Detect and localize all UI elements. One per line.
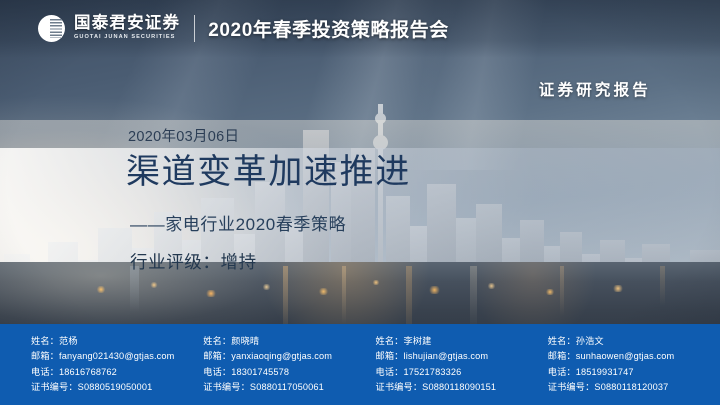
contact-name: 姓名：颜晓晴 — [203, 334, 375, 349]
contact-email: 邮箱：yanxiaoqing@gtjas.com — [203, 349, 375, 364]
gtja-circle-logo-icon — [38, 15, 65, 42]
contact-phone: 电话：18301745578 — [203, 365, 375, 380]
report-type-label: 证券研究报告 — [539, 78, 651, 100]
header-divider — [194, 15, 195, 42]
brand-name-cn: 国泰君安证券GUOTAI JUNAN SECURITIES — [74, 15, 180, 40]
contact-cert: 证书编号：S0880519050001 — [31, 380, 203, 395]
brand-name-en: GUOTAI JUNAN SECURITIES — [74, 35, 180, 41]
contact-name: 姓名：孙浩文 — [548, 334, 720, 349]
brand-logo: 国泰君安证券GUOTAI JUNAN SECURITIES — [38, 15, 180, 42]
contact-email: 邮箱：fanyang021430@gtjas.com — [31, 349, 203, 364]
slide-header: 国泰君安证券GUOTAI JUNAN SECURITIES 2020年春季投资策… — [0, 0, 720, 56]
contact-cert: 证书编号：S0880118120037 — [548, 380, 720, 395]
contact-phone: 电话：17521783326 — [376, 365, 548, 380]
page-title: 渠道变革加速推进 — [126, 155, 411, 189]
contact-name: 姓名：李树建 — [376, 334, 548, 349]
contact-card: 姓名：李树建 邮箱：lishujian@gtjas.com 电话：1752178… — [376, 334, 548, 396]
contacts-footer: 姓名：范杨 邮箱：fanyang021430@gtjas.com 电话：1861… — [0, 324, 720, 405]
contact-phone: 电话：18616768762 — [31, 365, 203, 380]
presentation-cover-slide: 国泰君安证券GUOTAI JUNAN SECURITIES 2020年春季投资策… — [0, 0, 720, 405]
contact-card: 姓名：范杨 邮箱：fanyang021430@gtjas.com 电话：1861… — [31, 334, 203, 396]
contact-cert: 证书编号：S0880117050061 — [203, 380, 375, 395]
industry-rating: 行业评级：增持 — [130, 249, 257, 274]
contact-card: 姓名：孙浩文 邮箱：sunhaowen@gtjas.com 电话：1851993… — [548, 334, 720, 396]
contact-card: 姓名：颜晓晴 邮箱：yanxiaoqing@gtjas.com 电话：18301… — [203, 334, 375, 396]
contact-email: 邮箱：lishujian@gtjas.com — [376, 349, 548, 364]
page-subtitle: ——家电行业2020春季策略 — [130, 210, 346, 235]
contact-email: 邮箱：sunhaowen@gtjas.com — [548, 349, 720, 364]
event-title: 2020年春季投资策略报告会 — [208, 15, 449, 42]
contact-name: 姓名：范杨 — [31, 334, 203, 349]
contact-phone: 电话：18519931747 — [548, 365, 720, 380]
publish-date: 2020年03月06日 — [128, 125, 239, 146]
contact-cert: 证书编号：S0880118090151 — [376, 380, 548, 395]
